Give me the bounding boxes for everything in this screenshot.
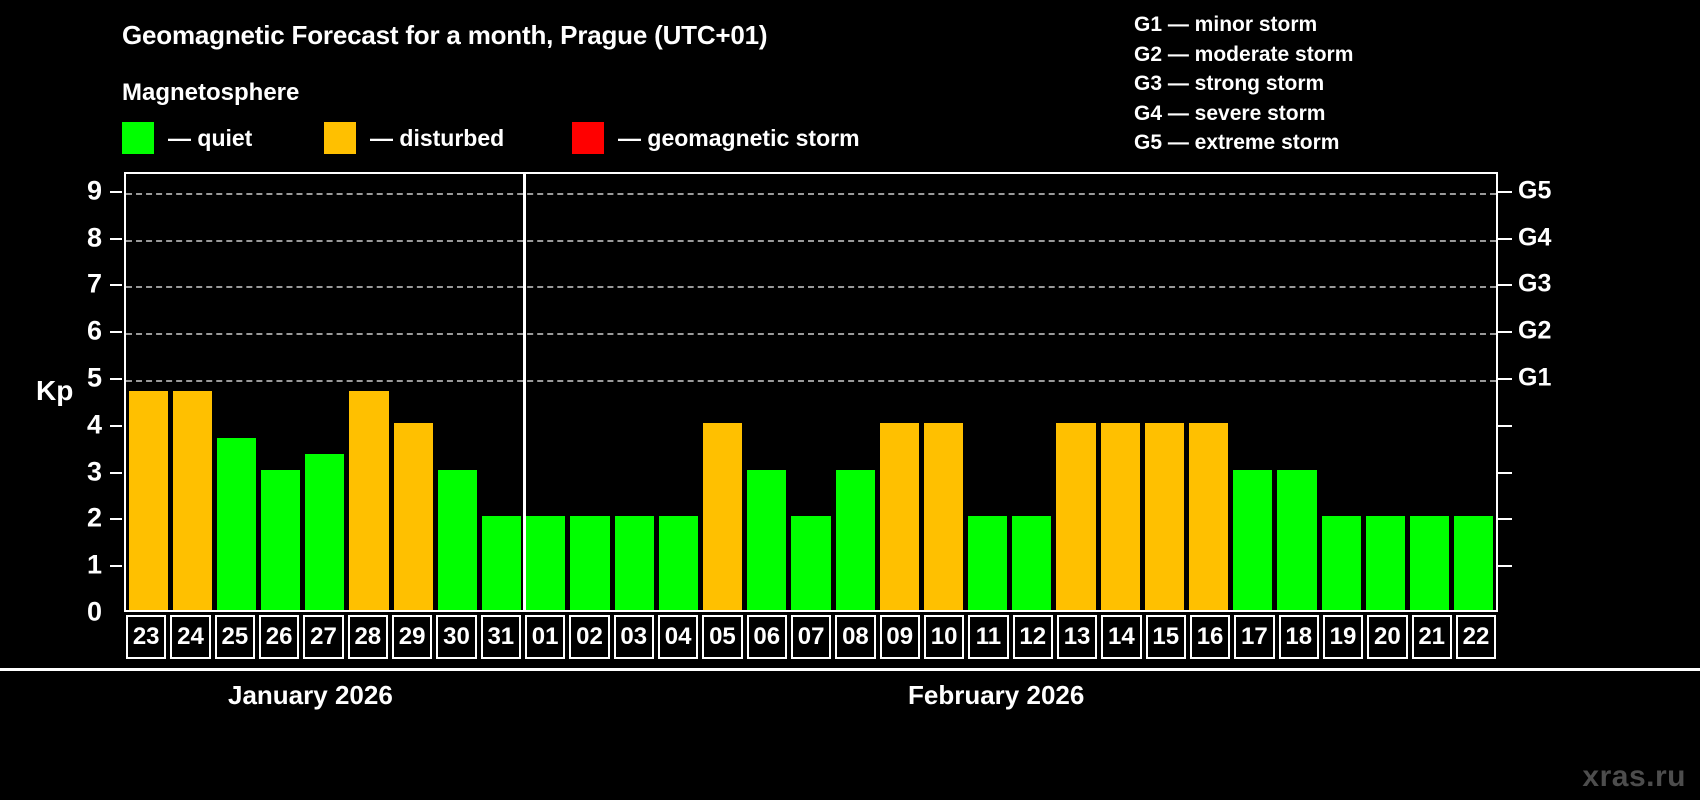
date-label-01[interactable]: 01 [525, 615, 565, 659]
date-label-12[interactable]: 12 [1013, 615, 1053, 659]
g-scale-row: G5 — extreme storm [1134, 128, 1353, 158]
y-axis-tick-mark [110, 565, 122, 567]
bar-17-quiet[interactable] [1233, 470, 1272, 610]
date-axis: 2324252627282930310102030405060708091011… [124, 615, 1498, 659]
date-label-27[interactable]: 27 [303, 615, 343, 659]
watermark: xras.ru [1582, 760, 1686, 794]
y-axis-tick-label: 6 [62, 316, 102, 347]
green-square-icon [122, 122, 154, 154]
gridline [126, 240, 1496, 242]
gridline [126, 333, 1496, 335]
g-axis-minor-tick-mark [1498, 518, 1512, 520]
bar-03-quiet[interactable] [615, 516, 654, 610]
date-label-21[interactable]: 21 [1412, 615, 1452, 659]
bar-22-quiet[interactable] [1454, 516, 1493, 610]
date-label-20[interactable]: 20 [1367, 615, 1407, 659]
g-axis-tick-label-g5: G5 [1518, 176, 1551, 205]
date-cell[interactable]: 12 [1011, 615, 1055, 659]
date-cell[interactable]: 27 [301, 615, 345, 659]
date-cell[interactable]: 16 [1188, 615, 1232, 659]
date-cell[interactable]: 22 [1454, 615, 1498, 659]
legend-item-label: — disturbed [370, 125, 504, 152]
date-cell[interactable]: 09 [878, 615, 922, 659]
y-axis-tick-label: 7 [62, 269, 102, 300]
date-label-11[interactable]: 11 [968, 615, 1008, 659]
bar-30-quiet[interactable] [438, 470, 477, 610]
date-cell[interactable]: 31 [479, 615, 523, 659]
date-label-29[interactable]: 29 [392, 615, 432, 659]
g-axis-tick-label-g3: G3 [1518, 270, 1551, 299]
bar-28-disturbed[interactable] [349, 391, 388, 610]
date-cell[interactable]: 25 [213, 615, 257, 659]
legend-item-label: — geomagnetic storm [618, 125, 860, 152]
bar-26-quiet[interactable] [261, 470, 300, 610]
date-label-16[interactable]: 16 [1190, 615, 1230, 659]
bar-11-quiet[interactable] [968, 516, 1007, 610]
y-axis-tick-mark [110, 284, 122, 286]
bar-23-disturbed[interactable] [129, 391, 168, 610]
y-axis-tick-label: 9 [62, 175, 102, 206]
bar-05-disturbed[interactable] [703, 423, 742, 610]
legend-item-label: — quiet [168, 125, 252, 152]
date-cell[interactable]: 20 [1365, 615, 1409, 659]
g-axis-tick-mark [1498, 284, 1512, 286]
date-label-03[interactable]: 03 [614, 615, 654, 659]
y-axis-tick-mark [110, 518, 122, 520]
g-axis-tick-mark [1498, 191, 1512, 193]
bar-29-disturbed[interactable] [394, 423, 433, 610]
date-label-26[interactable]: 26 [259, 615, 299, 659]
date-cell[interactable]: 06 [745, 615, 789, 659]
date-label-23[interactable]: 23 [126, 615, 166, 659]
y-axis-tick-label: 4 [62, 409, 102, 440]
month-separator [523, 174, 526, 610]
y-axis-tick-mark [110, 331, 122, 333]
y-axis-tick-label: 1 [62, 550, 102, 581]
bar-31-quiet[interactable] [482, 516, 521, 610]
g-axis-minor-tick-mark [1498, 425, 1512, 427]
g-scale-row: G3 — strong storm [1134, 69, 1353, 99]
y-axis-tick-mark [110, 191, 122, 193]
bar-02-quiet[interactable] [570, 516, 609, 610]
date-label-13[interactable]: 13 [1057, 615, 1097, 659]
date-cell[interactable]: 17 [1232, 615, 1276, 659]
g-axis-tick-mark [1498, 331, 1512, 333]
g-axis-minor-tick-mark [1498, 472, 1512, 474]
date-cell[interactable]: 29 [390, 615, 434, 659]
date-label-28[interactable]: 28 [348, 615, 388, 659]
date-label-22[interactable]: 22 [1456, 615, 1496, 659]
date-cell[interactable]: 28 [346, 615, 390, 659]
bar-10-disturbed[interactable] [924, 423, 963, 610]
date-cell[interactable]: 03 [612, 615, 656, 659]
legend-item-geomagnetic-storm: — geomagnetic storm [572, 122, 860, 154]
g-axis-tick-label-g2: G2 [1518, 317, 1551, 346]
date-label-07[interactable]: 07 [791, 615, 831, 659]
date-cell[interactable]: 10 [922, 615, 966, 659]
gridline [126, 193, 1496, 195]
geomagnetic-forecast-chart: Geomagnetic Forecast for a month, Prague… [0, 0, 1700, 800]
g-scale-row: G1 — minor storm [1134, 10, 1353, 40]
y-axis-tick-mark [110, 472, 122, 474]
bar-25-quiet[interactable] [217, 438, 256, 610]
bar-09-disturbed[interactable] [880, 423, 919, 610]
y-axis-tick-label: 3 [62, 456, 102, 487]
date-label-08[interactable]: 08 [835, 615, 875, 659]
month-label: February 2026 [908, 680, 1084, 711]
date-cell[interactable]: 18 [1277, 615, 1321, 659]
date-cell[interactable]: 23 [124, 615, 168, 659]
bar-01-quiet[interactable] [526, 516, 565, 610]
bar-18-quiet[interactable] [1277, 470, 1316, 610]
date-label-06[interactable]: 06 [747, 615, 787, 659]
page-title: Geomagnetic Forecast for a month, Prague… [122, 20, 767, 51]
g-scale-legend: G1 — minor stormG2 — moderate stormG3 — … [1134, 10, 1353, 158]
axis-baseline [0, 668, 1700, 671]
date-label-02[interactable]: 02 [569, 615, 609, 659]
date-cell[interactable]: 05 [700, 615, 744, 659]
date-label-04[interactable]: 04 [658, 615, 698, 659]
bar-20-quiet[interactable] [1366, 516, 1405, 610]
bar-19-quiet[interactable] [1322, 516, 1361, 610]
date-label-31[interactable]: 31 [481, 615, 521, 659]
orange-square-icon [324, 122, 356, 154]
date-label-17[interactable]: 17 [1234, 615, 1274, 659]
date-label-19[interactable]: 19 [1323, 615, 1363, 659]
date-cell[interactable]: 21 [1410, 615, 1454, 659]
date-cell[interactable]: 24 [168, 615, 212, 659]
legend-item-quiet: — quiet [122, 122, 252, 154]
date-cell[interactable]: 04 [656, 615, 700, 659]
date-cell[interactable]: 08 [833, 615, 877, 659]
date-cell[interactable]: 14 [1099, 615, 1143, 659]
bar-14-disturbed[interactable] [1101, 423, 1140, 610]
y-axis-label: Kp [36, 375, 73, 407]
bar-07-quiet[interactable] [791, 516, 830, 610]
date-cell[interactable]: 13 [1055, 615, 1099, 659]
bar-08-quiet[interactable] [836, 470, 875, 610]
bar-27-quiet[interactable] [305, 454, 344, 610]
bar-21-quiet[interactable] [1410, 516, 1449, 610]
y-axis-tick-label: 0 [62, 597, 102, 628]
bar-04-quiet[interactable] [659, 516, 698, 610]
bar-15-disturbed[interactable] [1145, 423, 1184, 610]
bar-12-quiet[interactable] [1012, 516, 1051, 610]
g-axis-minor-tick-mark [1498, 565, 1512, 567]
bar-13-disturbed[interactable] [1056, 423, 1095, 610]
date-label-14[interactable]: 14 [1101, 615, 1141, 659]
date-cell[interactable]: 11 [966, 615, 1010, 659]
month-label: January 2026 [228, 680, 393, 711]
date-label-30[interactable]: 30 [436, 615, 476, 659]
date-label-24[interactable]: 24 [170, 615, 210, 659]
date-cell[interactable]: 26 [257, 615, 301, 659]
g-axis-tick-label-g4: G4 [1518, 223, 1551, 252]
bar-06-quiet[interactable] [747, 470, 786, 610]
date-cell[interactable]: 02 [567, 615, 611, 659]
date-label-05[interactable]: 05 [702, 615, 742, 659]
y-axis-tick-mark [110, 238, 122, 240]
red-square-icon [572, 122, 604, 154]
g-scale-row: G4 — severe storm [1134, 99, 1353, 129]
y-axis-tick-mark [110, 378, 122, 380]
y-axis-tick-label: 8 [62, 222, 102, 253]
g-axis-tick-mark [1498, 378, 1512, 380]
date-label-10[interactable]: 10 [924, 615, 964, 659]
date-label-18[interactable]: 18 [1279, 615, 1319, 659]
g-axis-tick-label-g1: G1 [1518, 363, 1551, 392]
g-scale-row: G2 — moderate storm [1134, 40, 1353, 70]
date-cell[interactable]: 07 [789, 615, 833, 659]
date-cell[interactable]: 15 [1144, 615, 1188, 659]
y-axis-tick-label: 2 [62, 503, 102, 534]
gridline [126, 380, 1496, 382]
legend-item-disturbed: — disturbed [324, 122, 504, 154]
g-axis: G5G4G3G2G1 [1498, 172, 1698, 612]
gridline [126, 286, 1496, 288]
date-cell[interactable]: 30 [434, 615, 478, 659]
y-axis-tick-mark [110, 425, 122, 427]
bar-24-disturbed[interactable] [173, 391, 212, 610]
section-subtitle: Magnetosphere [122, 79, 299, 107]
date-cell[interactable]: 19 [1321, 615, 1365, 659]
plot-area [124, 172, 1498, 612]
date-cell[interactable]: 01 [523, 615, 567, 659]
bar-16-disturbed[interactable] [1189, 423, 1228, 610]
date-label-15[interactable]: 15 [1146, 615, 1186, 659]
date-label-25[interactable]: 25 [215, 615, 255, 659]
date-label-09[interactable]: 09 [880, 615, 920, 659]
g-axis-tick-mark [1498, 238, 1512, 240]
